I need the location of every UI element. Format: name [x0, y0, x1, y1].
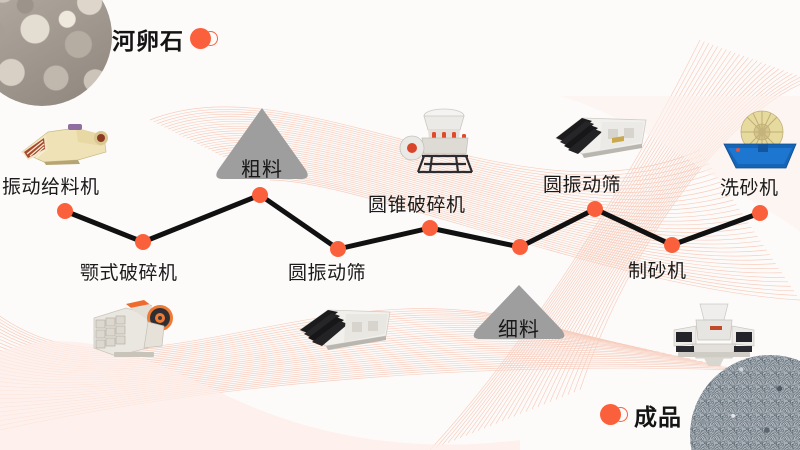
flow-label-vibrating-feeder: 振动给料机 — [2, 172, 100, 199]
header-label: 河卵石 — [112, 22, 184, 56]
flow-label-sand-washing-machine: 洗砂机 — [720, 173, 779, 200]
flow-label-circular-vibrating-screen-1: 圆振动筛 — [288, 258, 366, 285]
flow-node-cone-crusher[interactable] — [422, 220, 438, 236]
orange-dot-pair-icon — [190, 28, 224, 50]
flow-label-jaw-crusher: 颚式破碎机 — [80, 258, 178, 285]
footer-label: 成品 — [634, 398, 682, 432]
flow-node-vibrating-feeder[interactable] — [57, 203, 73, 219]
flow-label-circular-vibrating-screen-2: 圆振动筛 — [543, 170, 621, 197]
flow-label-cone-crusher: 圆锥破碎机 — [368, 190, 466, 217]
flow-label-sand-making-machine: 制砂机 — [628, 256, 687, 283]
header-material-marker: 河卵石 — [112, 22, 224, 56]
flow-node-junction-fine[interactable] — [512, 239, 528, 255]
flow-node-circular-vibrating-screen-1[interactable] — [330, 241, 346, 257]
flow-node-sand-washing-machine[interactable] — [752, 205, 768, 221]
flow-polyline — [0, 0, 800, 450]
flow-node-sand-making-machine[interactable] — [664, 237, 680, 253]
orange-dot-pair-icon — [600, 404, 634, 426]
footer-product-marker: 成品 — [600, 398, 682, 432]
flow-node-junction-coarse[interactable] — [252, 187, 268, 203]
flow-node-jaw-crusher[interactable] — [135, 234, 151, 250]
process-flow-diagram: 河卵石 成品 粗料 细料 — [0, 0, 800, 450]
flow-node-circular-vibrating-screen-2[interactable] — [587, 201, 603, 217]
